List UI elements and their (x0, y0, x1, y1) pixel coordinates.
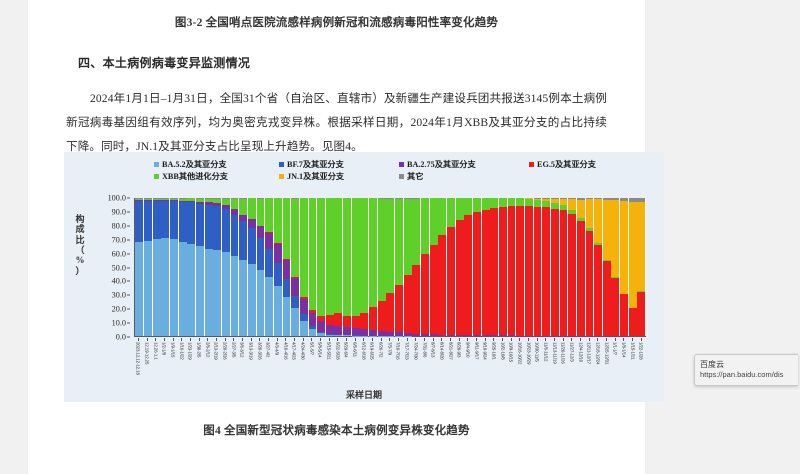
x-axis-label: 1/23-1/29 (186, 342, 195, 388)
y-axis-title-char: 成 (72, 224, 88, 234)
chart-bar-segment (300, 321, 308, 336)
chart-bar-segment (144, 241, 152, 336)
chart-bar-segment (265, 233, 273, 250)
chart-bar-segment (187, 244, 195, 336)
chart-bar (412, 198, 420, 336)
chart-bar-segment (560, 210, 568, 336)
x-axis-label-text: 1/15-1/21 (630, 342, 635, 360)
document-page: 图3-2 全国哨点医院流感样病例新冠和流感病毒阳性率变化趋势 四、本土病例病毒变… (28, 0, 645, 474)
x-axis-label-text: 10/9-10/15 (509, 342, 514, 362)
chart-bar (283, 198, 291, 336)
chart-bar-segment (135, 242, 143, 336)
chart-bar-segment (551, 209, 559, 336)
x-axis-label: 1/1-1/7 (611, 342, 620, 388)
chart-bar (317, 198, 325, 336)
chart-bar-segment (447, 198, 455, 227)
chart-bar-segment (309, 198, 317, 309)
chart-bar-segment (412, 334, 420, 336)
chart-bar-segment (586, 231, 594, 336)
chart-bar-segment (343, 316, 351, 327)
chart-bar (525, 198, 533, 336)
x-axis-label: 5/1-5/7 (307, 342, 316, 388)
chart-bar-segment (542, 207, 550, 335)
x-axis-label: 6/5-6/11 (351, 342, 360, 388)
chart-bar (309, 198, 317, 336)
chart-bar-segment (620, 294, 628, 335)
chart-bar-segment (257, 270, 265, 336)
tooltip-title: 百度云 (700, 359, 793, 370)
chart-bar-segment (594, 199, 602, 242)
chart-bar-segment (334, 313, 342, 327)
x-axis-label-text: 10/30-11/5 (535, 342, 540, 362)
chart-bar-segment (369, 198, 377, 306)
chart-bar-segment (577, 221, 585, 336)
x-axis-label: 2/20-2/26 (221, 342, 230, 388)
legend-swatch-icon (154, 174, 159, 179)
y-axis-title-char: 比 (72, 235, 88, 245)
chart-bar-segment (395, 285, 403, 332)
chart-bar-segment (334, 326, 342, 334)
chart-bar-segment (482, 335, 490, 336)
chart-bar (135, 198, 143, 336)
x-axis-label: 7/31-8/6 (420, 342, 429, 388)
chart-bar-segment (421, 254, 429, 334)
link-preview-tooltip: 百度云 https://pan.baidu.com/dis (694, 354, 798, 386)
chart-bar-segment (248, 264, 256, 336)
x-axis-label: 4/17-4/23 (290, 342, 299, 388)
x-axis-label: 5/8-5/14 (316, 342, 325, 388)
chart-bar-segment (343, 198, 351, 316)
x-axis-label-text: 11/20-11/26 (561, 342, 566, 364)
chart-bar-segment (300, 314, 308, 321)
x-axis-label: 3/27-4/2 (264, 342, 273, 388)
x-axis-label: 9/11-9/17 (472, 342, 481, 388)
chart-bar-segment (620, 201, 628, 293)
chart-bar-segment (629, 308, 637, 336)
y-axis-tick-mark (127, 295, 130, 296)
legend-swatch-icon (279, 162, 284, 167)
chart-bar-segment (257, 226, 265, 238)
chart-bar-segment (309, 313, 317, 325)
chart-bar (560, 198, 568, 336)
x-axis-label-text: 12/18-12/24 (595, 342, 600, 364)
chart-bar-segment (239, 215, 247, 222)
chart-bar-segment (222, 209, 230, 252)
chart-bar (205, 198, 213, 336)
x-axis-label: 7/17-7/23 (403, 342, 412, 388)
chart-bar (534, 198, 542, 336)
x-axis-label-text: 4/17-4/23 (292, 342, 297, 360)
chart-bar-segment (170, 239, 178, 336)
chart-bar-segment (568, 199, 576, 209)
chart-bar-segment (326, 325, 334, 334)
y-axis-tick-mark (127, 211, 130, 212)
chart-bar-segment (291, 308, 299, 336)
chart-bar-segment (222, 252, 230, 336)
chart-bar (637, 198, 645, 336)
y-axis-tick-mark (127, 239, 130, 240)
x-axis-label-text: 7/31-8/6 (422, 342, 427, 357)
y-axis-title-char: % (72, 255, 88, 265)
x-axis-label: 7/3-7/9 (385, 342, 394, 388)
chart-bar-segment (508, 198, 516, 206)
x-axis-label: 9/25-10/1 (490, 342, 499, 388)
chart-bar-segment (274, 263, 282, 286)
x-axis-label-text: 8/7-8/13 (431, 342, 436, 357)
chart-bar (568, 198, 576, 336)
chart-bar (274, 198, 282, 336)
chart-bar-segment (343, 327, 351, 335)
x-axis-label: 9/4-9/10 (464, 342, 473, 388)
chart-bar-segment (378, 301, 386, 331)
chart-bar-segment (386, 199, 394, 293)
y-axis-tick-mark (127, 337, 130, 338)
chart-bar-segment (516, 206, 524, 336)
chart-bar (213, 198, 221, 336)
legend-swatch-icon (154, 162, 159, 167)
chart-bar (239, 198, 247, 336)
x-axis-label-text: 4/10-4/16 (283, 342, 288, 360)
y-axis-tick-mark (127, 253, 130, 254)
chart-bar-segment (360, 198, 368, 312)
chart-bar-segment (482, 198, 490, 209)
x-axis-label: 12/4-12/10 (576, 342, 585, 388)
chart-bar-segment (568, 214, 576, 335)
x-axis-label: 4/3-4/9 (273, 342, 282, 388)
chart-bar-segment (326, 315, 334, 325)
x-axis-label: 11/6-11/12 (542, 342, 551, 388)
y-axis-tick-label: 70.0 (112, 235, 126, 244)
chart-bar (161, 198, 169, 336)
y-axis-tick-mark (127, 323, 130, 324)
chart-bar-segment (179, 202, 187, 242)
chart-bar-segment (456, 220, 464, 335)
x-axis-label: 12/18-12/24 (594, 342, 603, 388)
x-axis-label: 3/20-3/26 (255, 342, 264, 388)
legend-swatch-icon (399, 162, 404, 167)
x-axis-label-text: 5/1-5/7 (309, 342, 314, 355)
chart-bar (404, 198, 412, 336)
chart-bar (179, 198, 187, 336)
x-axis-label-text: 6/26-7/2 (379, 342, 384, 357)
x-axis-label: 10/2-10/8 (498, 342, 507, 388)
chart-bar-segment (231, 256, 239, 336)
chart-bar-segment (283, 260, 291, 279)
chart-bar-segment (291, 199, 299, 277)
chart-bar-segment (456, 198, 464, 220)
x-axis-label-text: 12.19-12.25 (145, 342, 150, 364)
y-axis-title-char: ） (72, 266, 88, 276)
legend-item: EG.5及其亚分支 (529, 158, 624, 170)
legend-label: EG.5及其亚分支 (537, 158, 596, 170)
chart-bar (586, 198, 594, 336)
x-axis-label-text: 3/13-3/19 (249, 342, 254, 360)
chart-bar-segment (499, 198, 507, 207)
chart-bar-segment (248, 228, 256, 264)
x-axis-label: 10/9-10/15 (507, 342, 516, 388)
legend-item: 其它 (399, 170, 529, 182)
chart-bar (611, 198, 619, 336)
chart-bar (603, 198, 611, 336)
x-axis-label: 2023.12.12-12.18 (134, 342, 143, 388)
x-axis-label: 12/11-12/17 (585, 342, 594, 388)
chart-plot-area (134, 198, 646, 337)
y-axis-tick-mark (127, 225, 130, 226)
chart-bar-segment (430, 334, 438, 336)
chart-bar-segment (179, 242, 187, 336)
x-axis-label: 7/10-7/16 (394, 342, 403, 388)
chart-bar-segment (239, 199, 247, 215)
chart-bar (378, 198, 386, 336)
x-axis-label: 12.26-1.1 (151, 342, 160, 388)
chart-bar-segment (205, 249, 213, 336)
chart-bar-segment (257, 238, 265, 270)
x-axis-label-text: 1/1-1/7 (613, 342, 618, 355)
chart-bar-segment (603, 200, 611, 260)
chart-bar-segment (447, 227, 455, 335)
chart-bar-segment (369, 307, 377, 330)
chart-bar (196, 198, 204, 336)
chart-bar (490, 198, 498, 336)
chart-bar-segment (404, 275, 412, 333)
chart-bar-segment (542, 201, 550, 208)
x-axis-label: 3/6-3/12 (238, 342, 247, 388)
chart-bar (222, 198, 230, 336)
x-axis-label: 6/19-6/25 (368, 342, 377, 388)
x-axis-label: 6/12-6/18 (359, 342, 368, 388)
x-axis-label-text: 2/13-2/19 (214, 342, 219, 360)
x-axis-label: 4/24-4/30 (299, 342, 308, 388)
chart-bar (482, 198, 490, 336)
chart-bar-segment (464, 198, 472, 215)
chart-bar-segment (482, 210, 490, 336)
chart-bar-segment (516, 198, 524, 205)
chart-bar-segment (525, 199, 533, 206)
x-axis-label-text: 9/4-9/10 (465, 342, 470, 357)
chart-bar-segment (213, 206, 221, 250)
body-paragraph: 2024年1月1日–1月31日，全国31个省（自治区、直辖市）及新疆生产建设兵团… (66, 87, 607, 158)
chart-bar-segment (499, 335, 507, 336)
x-axis-label-text: 11/13-11/19 (552, 342, 557, 364)
chart-bar-segment (334, 198, 342, 312)
y-axis-tick-label: 0.0 (116, 333, 126, 342)
chart-bar-segment (283, 297, 291, 336)
x-axis-label: 8/21-8/27 (446, 342, 455, 388)
x-axis-label-text: 5/8-5/14 (318, 342, 323, 357)
chart-legend: BA.5.2及其亚分支BF.7及其亚分支BA.2.75及其亚分支EG.5及其亚分… (154, 158, 624, 182)
chart-bar (473, 198, 481, 336)
section-heading: 四、本土病例病毒变异监测情况 (78, 54, 645, 71)
chart-bar (369, 198, 377, 336)
x-axis-label: 8/28-9/3 (455, 342, 464, 388)
chart-bar-segment (412, 199, 420, 265)
chart-bar-segment (283, 279, 291, 297)
chart-bar-segment (283, 198, 291, 259)
chart-bar-segment (274, 198, 282, 243)
legend-item: XBB其他进化分支 (154, 170, 279, 182)
chart-bar (438, 198, 446, 336)
chart-bar-segment (508, 335, 516, 336)
chart-bar (542, 198, 550, 336)
chart-bar-segment (473, 198, 481, 211)
x-axis-label-text: 1/8-1/14 (621, 342, 626, 357)
legend-item: BA.5.2及其亚分支 (154, 158, 279, 170)
y-axis-tick-mark (127, 267, 130, 268)
chart-bar-segment (334, 335, 342, 336)
chart-bar-segment (352, 198, 360, 316)
chart-bar-segment (196, 246, 204, 336)
x-axis-label: 5/22-5/28 (333, 342, 342, 388)
chart-bar-segment (594, 245, 602, 336)
x-axis-label-text: 12.26-1.1 (153, 342, 158, 360)
chart-bar-segment (239, 260, 247, 336)
x-axis-label-text: 12/25-12/31 (604, 342, 609, 364)
legend-item: JN.1及其亚分支 (279, 170, 399, 182)
y-axis-tick-mark (127, 309, 130, 310)
chart-bar-segment (257, 199, 265, 226)
chart-bar-segment (300, 198, 308, 296)
x-axis-label-text: 4/24-4/30 (301, 342, 306, 360)
legend-label: BA.5.2及其亚分支 (162, 158, 227, 170)
x-axis-labels: 2023.12.12-12.1812.19-12.2512.26-1.11/2-… (134, 342, 646, 388)
chart-bar-segment (248, 219, 256, 228)
y-axis-tick-label: 20.0 (112, 305, 126, 314)
x-axis-label-text: 1/30-2/5 (197, 342, 202, 357)
legend-swatch-icon (279, 174, 284, 179)
chart-bar (360, 198, 368, 336)
chart-bar-segment (161, 201, 169, 238)
y-axis-tick-label: 100.0 (108, 194, 126, 203)
chart-bar (447, 198, 455, 336)
chart-bar-segment (611, 278, 619, 336)
chart-bar-segment (291, 296, 299, 308)
chart-bar-segment (343, 335, 351, 336)
chart-bar-segment (447, 335, 455, 336)
y-axis-tick-label: 90.0 (112, 207, 126, 216)
x-axis-label: 11/27-12/3 (568, 342, 577, 388)
chart-bar (386, 198, 394, 336)
chart-bar-segment (378, 199, 386, 301)
figure3-caption: 图3-2 全国哨点医院流感样病例新冠和流感病毒阳性率变化趋势 (28, 14, 645, 30)
x-axis-label: 1/22-1/28 (637, 342, 646, 388)
x-axis-label: 8/7-8/13 (429, 342, 438, 388)
x-axis-label-text: 1/23-1/29 (188, 342, 193, 360)
x-axis-label: 8/14-8/20 (438, 342, 447, 388)
chart-bar (300, 198, 308, 336)
x-axis-label-text: 5/22-5/28 (335, 342, 340, 360)
x-axis-label-text: 10/2-10/8 (500, 342, 505, 360)
chart-bar-segment (412, 265, 420, 334)
x-axis-label: 1/2-1/8 (160, 342, 169, 388)
chart-bar-segment (205, 205, 213, 249)
x-axis-label: 10/23-10/29 (524, 342, 533, 388)
x-axis-label: 11/20-11/26 (559, 342, 568, 388)
chart-bar-segment (326, 335, 334, 336)
x-axis-label-text: 1/2-1/8 (162, 342, 167, 355)
chart-bar (508, 198, 516, 336)
y-axis-tick-label: 40.0 (112, 277, 126, 286)
x-axis-label: 6/26-7/2 (377, 342, 386, 388)
chart-bar-segment (438, 235, 446, 334)
chart-bar-segment (135, 201, 143, 242)
x-axis-title: 采样日期 (64, 388, 664, 401)
y-axis-tick-mark (127, 198, 130, 199)
chart-bar (395, 198, 403, 336)
chart-bar (257, 198, 265, 336)
legend-item: BF.7及其亚分支 (279, 158, 399, 170)
chart-bar (170, 198, 178, 336)
x-axis-label-text: 3/27-4/2 (266, 342, 271, 357)
x-axis-label-text: 6/19-6/25 (370, 342, 375, 360)
x-axis-label: 10/16-10/22 (516, 342, 525, 388)
chart-bar-segment (326, 198, 334, 315)
document-viewer: 图3-2 全国哨点医院流感样病例新冠和流感病毒阳性率变化趋势 四、本土病例病毒变… (0, 0, 800, 474)
x-axis-label-text: 2/27-3/5 (231, 342, 236, 357)
x-axis-label-text: 8/14-8/20 (439, 342, 444, 360)
chart-bar-segment (490, 208, 498, 335)
x-axis-label-text: 1/9-1/15 (171, 342, 176, 357)
x-axis-label: 11/13-11/19 (550, 342, 559, 388)
x-axis-label: 12.19-12.25 (143, 342, 152, 388)
x-axis-label: 4/10-4/16 (281, 342, 290, 388)
chart-bar (334, 198, 342, 336)
chart-bar (153, 198, 161, 336)
chart-bar (456, 198, 464, 336)
y-axis-title-char: 构 (72, 214, 88, 224)
chart-bar-segment (317, 198, 325, 315)
legend-label: XBB其他进化分支 (162, 170, 228, 182)
x-axis-label-text: 5/15-5/21 (327, 342, 332, 360)
x-axis-label-text: 11/6-11/12 (543, 342, 548, 361)
chart-bar-segment (352, 316, 360, 328)
legend-item: BA.2.75及其亚分支 (399, 158, 529, 170)
x-axis-label-text: 7/17-7/23 (405, 342, 410, 360)
legend-label: JN.1及其亚分支 (287, 170, 344, 182)
chart-bar (326, 198, 334, 336)
chart-bar-segment (196, 204, 204, 247)
x-axis-label: 9/18-9/24 (481, 342, 490, 388)
x-axis-label-text: 7/10-7/16 (396, 342, 401, 360)
chart-bar-segment (456, 335, 464, 336)
chart-bar-segment (153, 239, 161, 336)
legend-label: BA.2.75及其亚分支 (407, 158, 476, 170)
chart-bar-segment (464, 335, 472, 336)
chart-bar (620, 198, 628, 336)
x-axis-label-text: 7/3-7/9 (387, 342, 392, 355)
y-axis-title: 构成比（%） (72, 214, 88, 276)
legend-swatch-icon (529, 162, 534, 167)
x-axis-label: 2/6-2/12 (203, 342, 212, 388)
chart-bar-segment (187, 202, 195, 243)
x-axis-label-text: 11/27-12/3 (569, 342, 574, 362)
chart-bar-segment (395, 199, 403, 286)
chart-bar-segment (586, 199, 594, 228)
x-axis-label-text: 5/29-6/4 (344, 342, 349, 357)
legend-swatch-icon (399, 174, 404, 179)
legend-label: BF.7及其亚分支 (287, 158, 344, 170)
chart-bar-segment (421, 334, 429, 336)
chart-bar (352, 198, 360, 336)
figure4-chart: BA.5.2及其亚分支BF.7及其亚分支BA.2.75及其亚分支EG.5及其亚分… (64, 152, 664, 402)
chart-bar-segment (231, 199, 239, 209)
y-axis-title-char: （ (72, 245, 88, 255)
tooltip-url: https://pan.baidu.com/dis (700, 370, 793, 381)
chart-bar-segment (430, 198, 438, 244)
x-axis-label-text: 8/21-8/27 (448, 342, 453, 360)
x-axis-label-text: 10/16-10/22 (517, 342, 522, 364)
x-axis-label-text: 2/6-2/12 (205, 342, 210, 357)
x-axis-label-text: 2023.12.12-12.18 (136, 342, 141, 375)
